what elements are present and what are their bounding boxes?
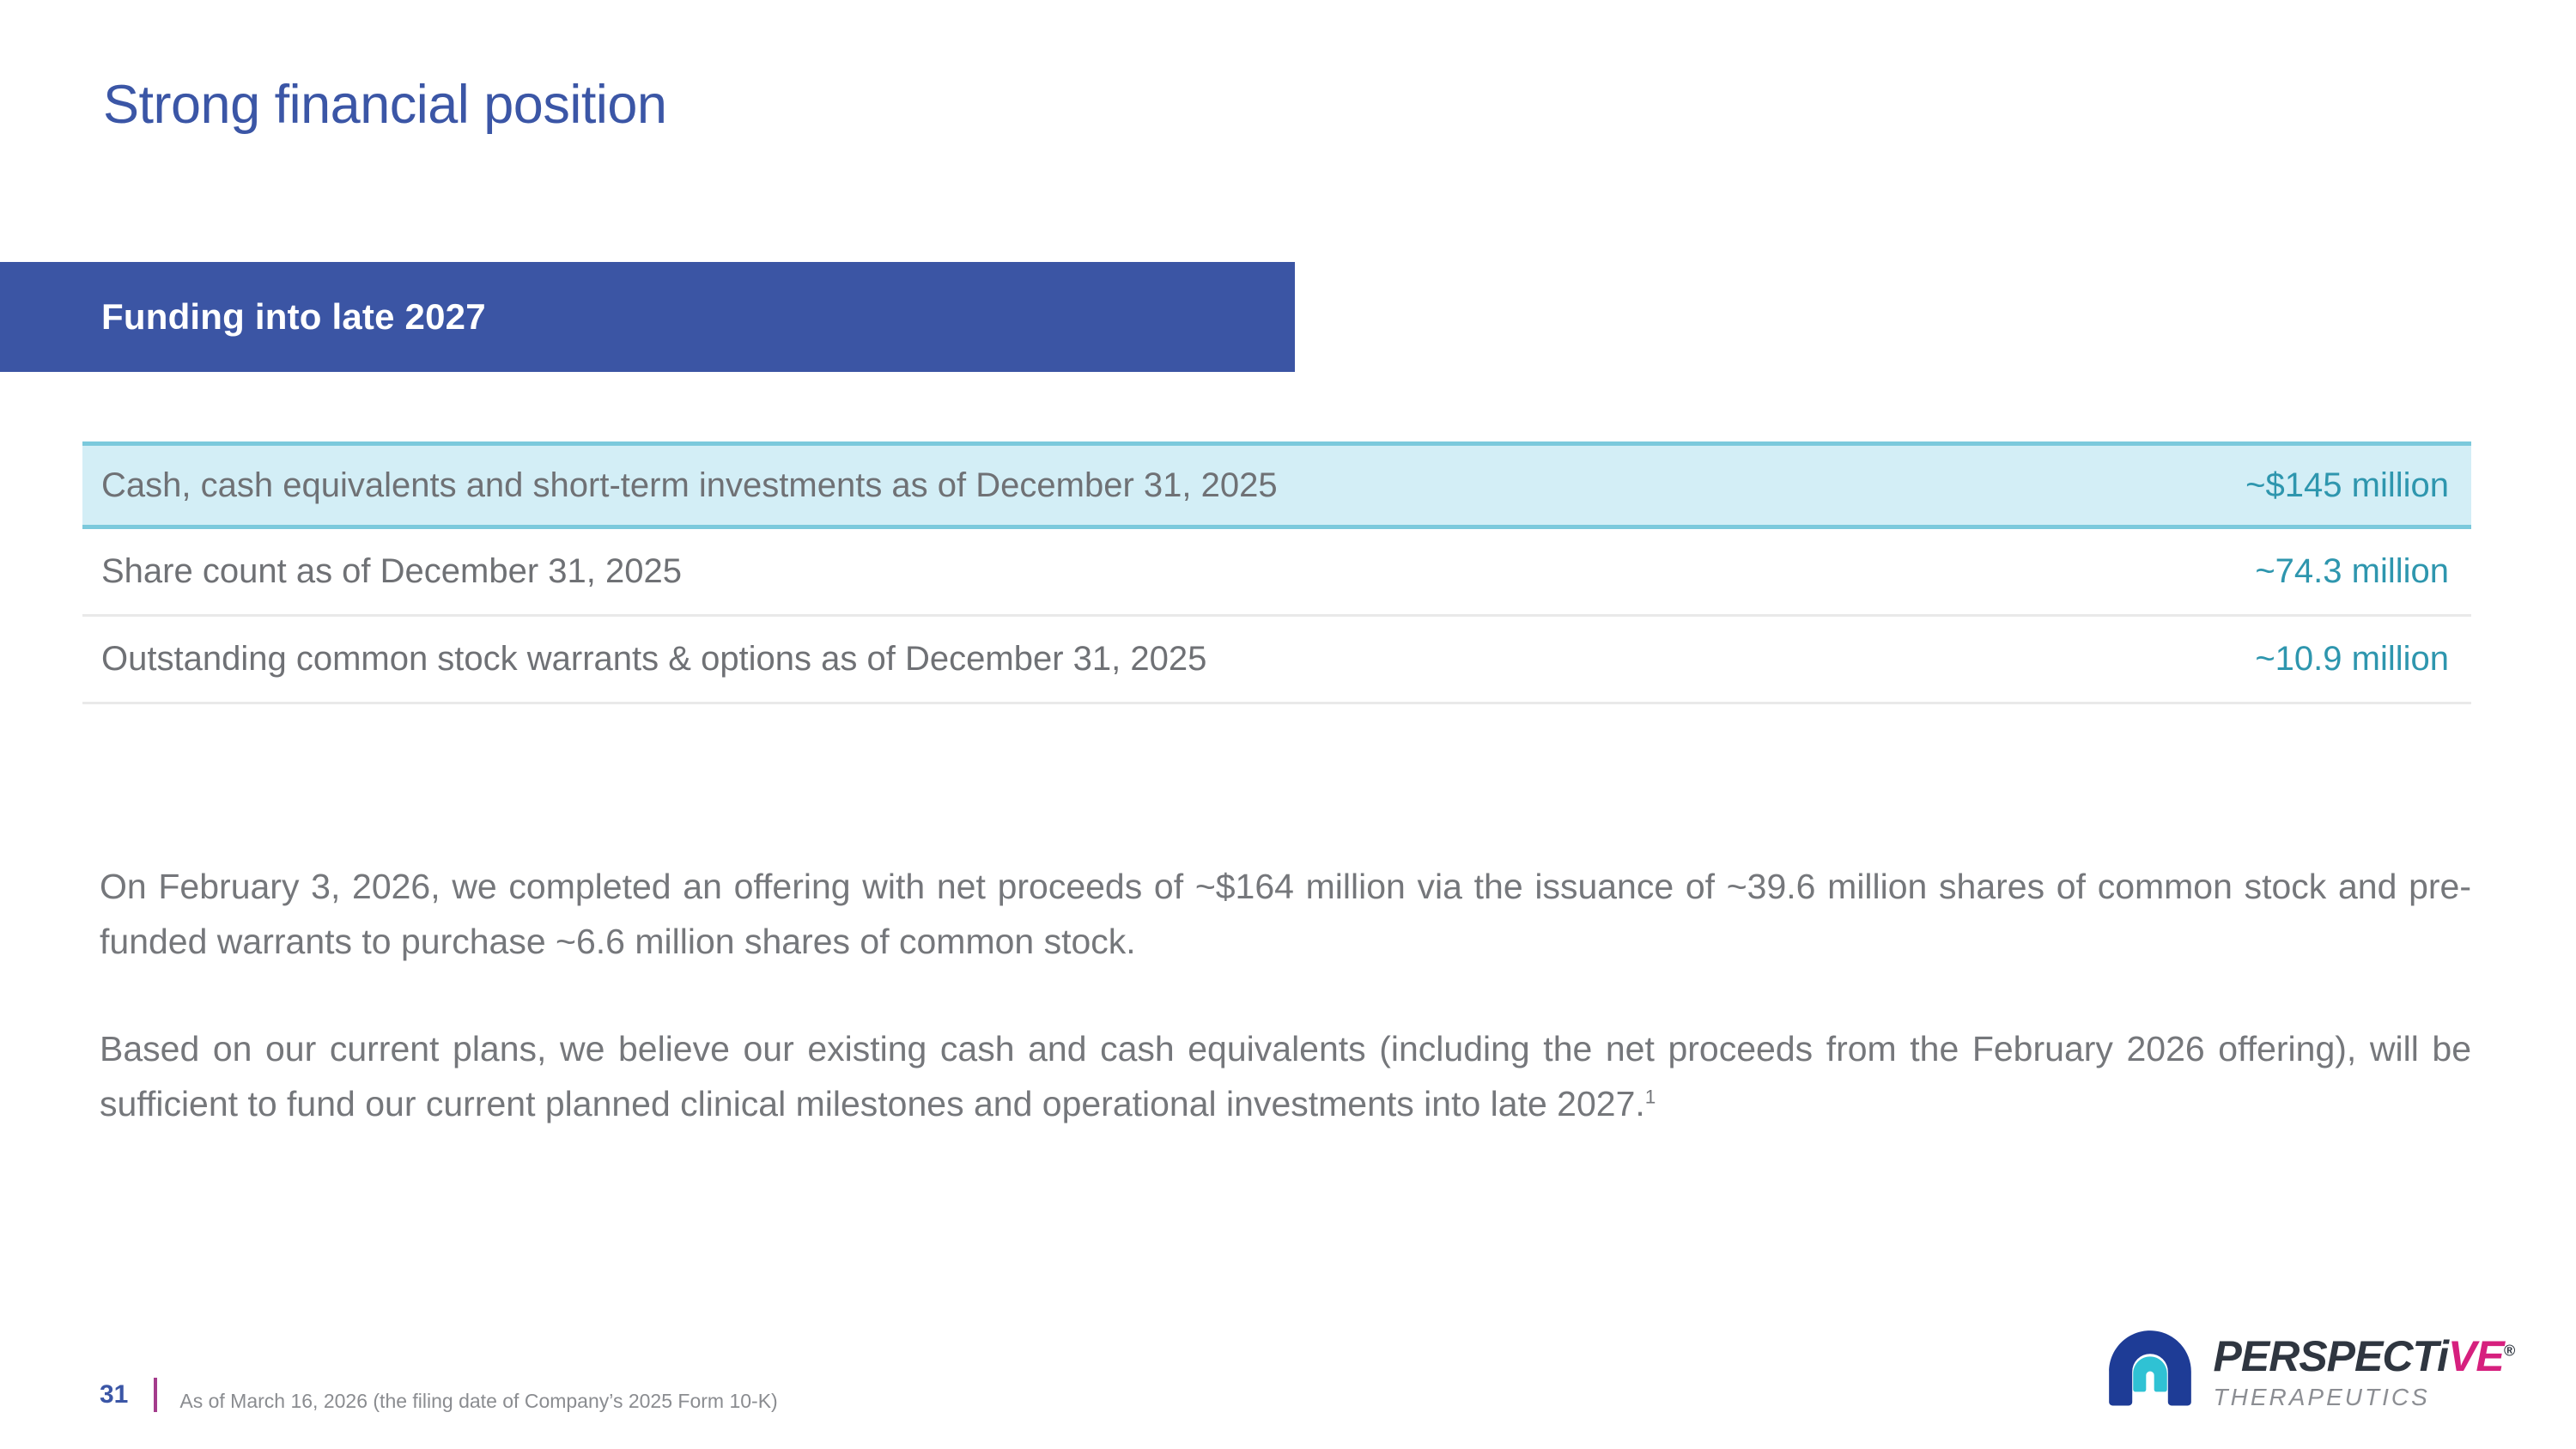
metric-value: ~74.3 million xyxy=(2255,552,2452,591)
page-number: 31 xyxy=(100,1382,128,1408)
metric-value: ~$145 million xyxy=(2245,466,2452,505)
slide-root: Strong financial position Funding into l… xyxy=(0,0,2576,1449)
company-logo: PERSPECTiVE® THERAPEUTICS xyxy=(2105,1327,2514,1416)
section-banner: Funding into late 2027 xyxy=(0,262,1295,372)
body-copy: On February 3, 2026, we completed an off… xyxy=(100,859,2471,1131)
metric-label: Share count as of December 31, 2025 xyxy=(101,552,682,591)
registered-trademark-icon: ® xyxy=(2504,1342,2514,1359)
metric-label: Cash, cash equivalents and short-term in… xyxy=(101,466,1278,505)
page-title: Strong financial position xyxy=(103,74,666,136)
perspective-arch-icon xyxy=(2105,1327,2195,1416)
metric-label: Outstanding common stock warrants & opti… xyxy=(101,640,1206,679)
footer-divider xyxy=(154,1378,157,1412)
financial-metrics-table: Cash, cash equivalents and short-term in… xyxy=(82,441,2471,704)
logo-wordmark-part1: PERSPECT xyxy=(2214,1332,2438,1380)
table-row: Share count as of December 31, 2025 ~74.… xyxy=(82,529,2471,617)
logo-subtitle: THERAPEUTICS xyxy=(2214,1385,2514,1409)
footnote-marker: 1 xyxy=(1645,1086,1656,1107)
logo-wordmark-ve: VE xyxy=(2448,1332,2504,1380)
logo-text-block: PERSPECTiVE® THERAPEUTICS xyxy=(2214,1335,2514,1409)
paragraph-runway: Based on our current plans, we believe o… xyxy=(100,1021,2471,1132)
table-row: Outstanding common stock warrants & opti… xyxy=(82,617,2471,704)
table-row: Cash, cash equivalents and short-term in… xyxy=(82,441,2471,529)
section-banner-label: Funding into late 2027 xyxy=(101,296,486,338)
logo-wordmark-i: i xyxy=(2437,1332,2448,1380)
slide-footer: 31 As of March 16, 2026 (the filing date… xyxy=(100,1376,778,1413)
logo-wordmark: PERSPECTiVE® xyxy=(2214,1335,2514,1378)
paragraph-offering: On February 3, 2026, we completed an off… xyxy=(100,859,2471,970)
paragraph-runway-text: Based on our current plans, we believe o… xyxy=(100,1029,2471,1123)
metric-value: ~10.9 million xyxy=(2255,640,2452,679)
footnote-text: As of March 16, 2026 (the filing date of… xyxy=(179,1376,777,1413)
